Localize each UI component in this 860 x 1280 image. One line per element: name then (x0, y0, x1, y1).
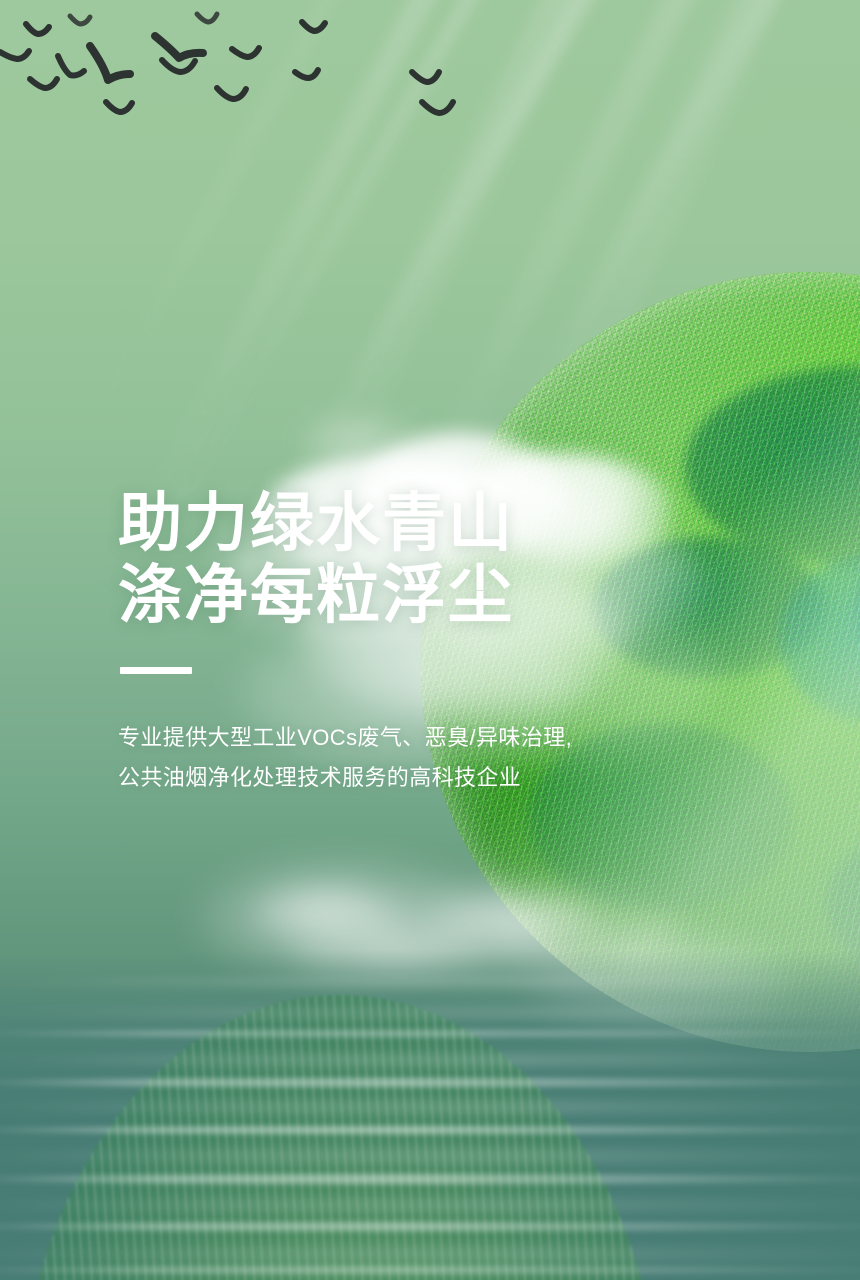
subtitle-line-2: 公共油烟净化处理技术服务的高科技企业 (118, 758, 678, 797)
flying-birds-flock (0, 0, 500, 140)
copy-block: 助力绿水青山 涤净每粒浮尘 专业提供大型工业VOCs废气、恶臭/异味治理, 公共… (118, 488, 678, 797)
subtitle-line-1: 专业提供大型工业VOCs废气、恶臭/异味治理, (118, 718, 678, 757)
headline-line-2: 涤净每粒浮尘 (118, 560, 678, 632)
headline-line-1: 助力绿水青山 (118, 488, 678, 560)
subtitle-block: 专业提供大型工业VOCs废气、恶臭/异味治理, 公共油烟净化处理技术服务的高科技… (118, 718, 678, 796)
divider-rule (120, 667, 192, 674)
eco-banner: 助力绿水青山 涤净每粒浮尘 专业提供大型工业VOCs废气、恶臭/异味治理, 公共… (0, 0, 860, 1280)
water-surface-reflection (0, 950, 860, 1280)
